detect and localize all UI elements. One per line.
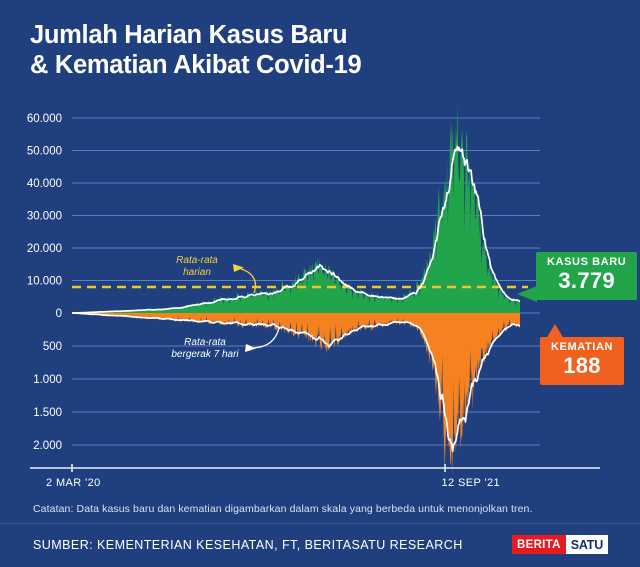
deaths-callout-value: 188 (551, 354, 613, 378)
x-axis-ticks: 2 MAR '2012 SEP '21 (46, 477, 500, 489)
infographic-root: Jumlah Harian Kasus Baru & Kematian Akib… (0, 0, 640, 567)
moving-average-arrowhead (245, 344, 256, 352)
deaths-area (72, 313, 520, 477)
page-title: Jumlah Harian Kasus Baru & Kematian Akib… (30, 20, 550, 80)
y-axis-tick-label: 0 (56, 308, 62, 320)
deaths-callout: KEMATIAN 188 (540, 337, 624, 385)
cases-callout: KASUS BARU 3.779 (536, 252, 637, 300)
moving-average-arrow (251, 328, 279, 348)
x-axis-tick-label: 12 SEP '21 (442, 477, 501, 489)
y-axis-tick-label: 40.000 (27, 178, 62, 190)
y-axis-tick-label: 60.000 (27, 113, 62, 125)
y-axis-tick-label: 30.000 (27, 211, 62, 223)
x-axis-tick-label: 2 MAR '20 (46, 477, 101, 489)
logo-berita: BERITA (512, 535, 566, 554)
y-axis-tick-label: 10.000 (27, 276, 62, 288)
annotation-moving-average-line1: Rata-rata (184, 337, 226, 348)
chart-note: Catatan: Data kasus baru dan kematian di… (33, 503, 533, 515)
source-line: SUMBER: KEMENTERIAN KESEHATAN, FT, BERIT… (33, 538, 463, 552)
logo-satu: SATU (566, 535, 608, 554)
y-axis-tick-label: 50.000 (27, 146, 62, 158)
footer-divider (0, 523, 640, 524)
y-axis-tick-label: 500 (43, 341, 62, 353)
y-axis-tick-label: 2.000 (33, 440, 62, 452)
cases-callout-tail (517, 286, 537, 302)
y-axis-ticks: 60.00050.00040.00030.00020.00010.0000500… (27, 113, 62, 452)
annotation-moving-average-line2: bergerak 7 hari (171, 349, 239, 360)
x-axis (30, 464, 600, 472)
annotation-daily-average-line2: harian (183, 267, 211, 278)
cases-area (72, 103, 520, 313)
y-axis-tick-label: 20.000 (27, 243, 62, 255)
annotation-daily-average-line1: Rata-rata (176, 255, 218, 266)
y-axis-tick-label: 1.500 (33, 407, 62, 419)
title-line-1: Jumlah Harian Kasus Baru (30, 20, 550, 50)
daily-average-arrowhead (233, 264, 244, 272)
beritasatu-logo: BERITA SATU (512, 535, 608, 554)
y-axis-tick-label: 1.000 (33, 374, 62, 386)
title-line-2: & Kematian Akibat Covid-19 (30, 50, 550, 80)
cases-callout-value: 3.779 (547, 269, 626, 293)
